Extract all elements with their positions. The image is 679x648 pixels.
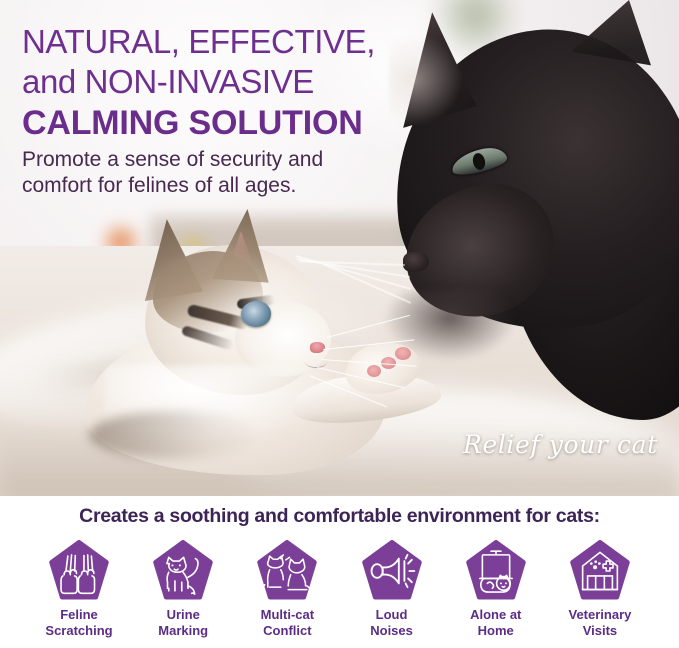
feature-item-feline-scratching: Feline Scratching (36, 540, 122, 639)
kitten-paw-pad (395, 347, 411, 360)
feature-label: Veterinary Visits (569, 607, 632, 639)
feature-label: Multi-cat Conflict (261, 607, 314, 639)
kitten-eye (241, 301, 271, 327)
feature-label-line-1: Alone at (470, 607, 521, 623)
feature-label-line-1: Feline (45, 607, 112, 623)
kitten-whisker (327, 315, 410, 339)
feature-label-line-2: Home (470, 623, 521, 639)
feature-item-urine-marking: Urine Marking (140, 540, 226, 639)
banner-title: Creates a soothing and comfortable envir… (0, 505, 679, 528)
feature-label-line-2: Marking (158, 623, 208, 639)
feature-label-line-2: Visits (569, 623, 632, 639)
feature-label: Loud Noises (370, 607, 413, 639)
kitten-back-fur (89, 411, 259, 459)
cat-window-alone-icon (465, 540, 527, 602)
headline-line-1: NATURAL, EFFECTIVE, (22, 22, 452, 62)
feature-item-multi-cat-conflict: Multi-cat Conflict (244, 540, 330, 639)
feature-label: Feline Scratching (45, 607, 112, 639)
kitten (95, 215, 425, 475)
two-cats-conflict-icon (256, 540, 318, 602)
feature-item-loud-noises: Loud Noises (349, 540, 435, 639)
subheadline-line-1: Promote a sense of security and (22, 147, 452, 173)
cat-scratching-paws-icon (48, 540, 110, 602)
feature-label: Alone at Home (470, 607, 521, 639)
headline-line-2: and NON-INVASIVE (22, 62, 452, 102)
headline-line-3: CALMING SOLUTION (22, 102, 452, 144)
feature-label-line-1: Urine (158, 607, 208, 623)
feature-label-line-2: Scratching (45, 623, 112, 639)
feature-banner: Creates a soothing and comfortable envir… (0, 496, 679, 648)
script-tagline: Relief your cat (463, 430, 658, 459)
horn-loud-noise-icon (361, 540, 423, 602)
kitten-paw-pad (367, 365, 381, 377)
marketing-banner: Relief your cat NATURAL, EFFECTIVE, and … (0, 0, 679, 648)
feature-label-line-1: Loud (370, 607, 413, 623)
feature-label-line-2: Noises (370, 623, 413, 639)
feature-label-line-1: Multi-cat (261, 607, 314, 623)
subheadline: Promote a sense of security and comfort … (22, 147, 452, 199)
cat-urine-marking-icon (152, 540, 214, 602)
feature-icon-row: Feline Scratching (0, 540, 679, 639)
headline-block: NATURAL, EFFECTIVE, and NON-INVASIVE CAL… (22, 22, 452, 199)
feature-item-veterinary-visits: Veterinary Visits (557, 540, 643, 639)
feature-label-line-1: Veterinary (569, 607, 632, 623)
feature-label-line-2: Conflict (261, 623, 314, 639)
vet-clinic-building-icon (569, 540, 631, 602)
feature-label: Urine Marking (158, 607, 208, 639)
subheadline-line-2: comfort for felines of all ages. (22, 173, 452, 199)
feature-item-alone-at-home: Alone at Home (453, 540, 539, 639)
